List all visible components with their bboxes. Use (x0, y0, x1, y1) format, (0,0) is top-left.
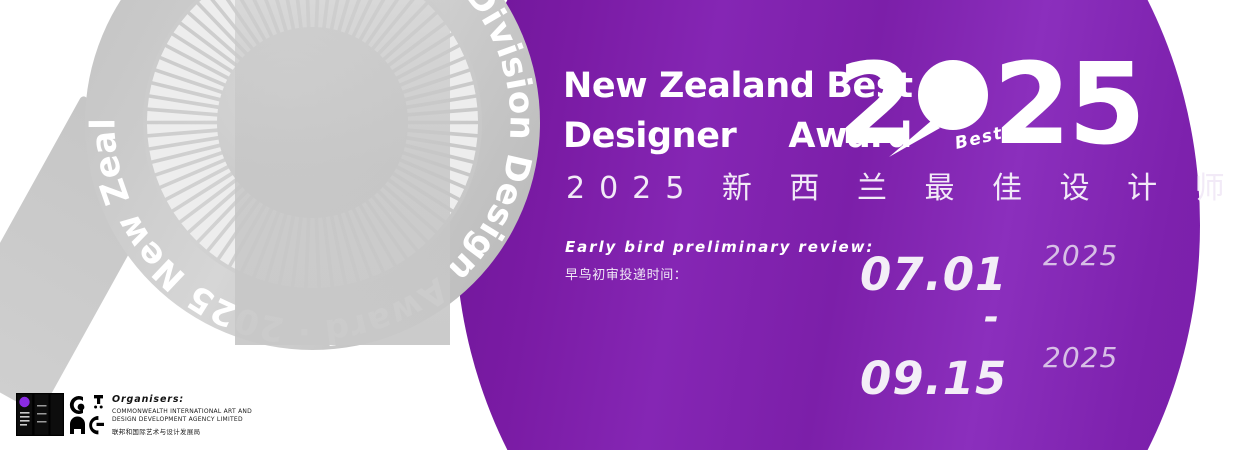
award-banner: China Division Design Award · 2025 New Z… (0, 0, 1250, 450)
date-start-row: 07.01 2025 (860, 248, 1160, 306)
date-end-row: 09.15 2025 (860, 352, 1160, 410)
date-range-block: 07.01 2025 - 09.15 2025 (860, 248, 1160, 408)
end-date: 09.15 (860, 352, 1007, 405)
year-logo-2025: 2 Best. 2 5 (843, 55, 1143, 155)
organiser-ca-monogram-icon (67, 393, 105, 436)
organisers-block: Organisers: COMMONWEALTH INTERNATIONAL A… (16, 392, 252, 436)
subtitle-chinese: 2025 新 西 兰 最 佳 设 计 师 奖 (566, 163, 1250, 207)
start-date: 07.01 (860, 248, 1007, 301)
early-bird-label-cn: 早鸟初审投递时间： (565, 264, 874, 283)
date-separator: - (984, 308, 999, 328)
organiser-text: Organisers: COMMONWEALTH INTERNATIONAL A… (112, 392, 252, 436)
headline-word-designer: Designer (563, 117, 736, 155)
year-digit-5: 5 (1068, 40, 1146, 170)
early-bird-block: Early bird preliminary review: 早鸟初审投递时间： (565, 238, 874, 283)
organiser-logo (16, 392, 105, 436)
year-digit-2-second: 2 (993, 40, 1071, 170)
organiser-square-logo-icon (16, 393, 64, 436)
organisers-title: Organisers: (112, 394, 252, 405)
organiser-name-en-1: COMMONWEALTH INTERNATIONAL ART AND (112, 408, 252, 416)
start-year: 2025 (1043, 239, 1118, 272)
early-bird-label-en: Early bird preliminary review: (565, 238, 874, 256)
banner-content: New Zealand Best Designer Award 2 Best. … (0, 0, 1250, 450)
year-digit-2-first: 2 (837, 40, 915, 170)
end-year: 2025 (1043, 341, 1118, 374)
organiser-name-en-2: DESIGN DEVELOPMENT AGENCY LIMITED (112, 416, 252, 424)
organiser-name-cn: 联邦和国际艺术与设计发展局 (112, 426, 252, 436)
